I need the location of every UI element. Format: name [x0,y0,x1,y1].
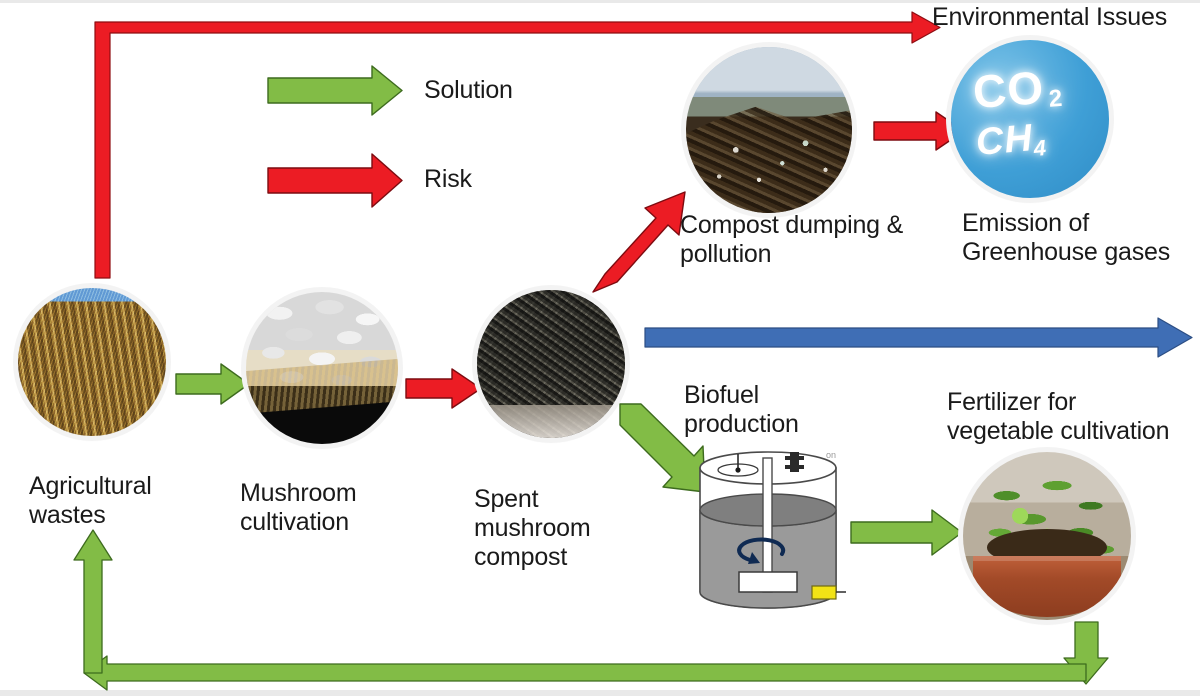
flow-outcome-blue-arrow [645,318,1192,357]
label-biofuel-production: Biofuel production [684,381,864,439]
legend-risk-arrow [268,154,402,207]
flow-risk-smc-to-dumping [593,192,685,292]
label-mushroom-cultivation: Mushroom cultivation [240,479,430,537]
node-fertilizer-image [963,452,1131,620]
svg-text:on: on [826,450,836,460]
flow-solution-wastes-to-mushroom [176,364,249,404]
node-compost-dumping-image [686,47,852,213]
ch4-gas-label: CH4 [975,116,1049,165]
node-greenhouse-gases-image: CO2 CH4 [951,40,1109,198]
label-agricultural-wastes: Agricultural wastes [29,472,209,530]
label-fertilizer: Fertilizer for vegetable cultivation [947,388,1200,446]
label-environmental-issues: Environmental Issues [932,3,1200,32]
legend-label-risk: Risk [424,165,604,194]
node-mushroom-cultivation-image [246,292,398,444]
label-greenhouse-gases: Emission of Greenhouse gases [962,209,1194,267]
label-compost-dumping: Compost dumping & pollution [680,211,930,269]
legend-solution-arrow [268,66,402,115]
legend-label-solution: Solution [424,76,604,105]
label-spent-mushroom-compost: Spent mushroom compost [474,485,644,572]
flow-solution-biofuel-to-fertilizer [851,510,962,555]
ch4-subscript: 4 [1033,135,1048,161]
diagram-canvas: CO2 CH4 on Solut [0,0,1200,696]
node-bioreactor-diagram: on [686,444,850,614]
co2-subscript: 2 [1048,85,1064,113]
node-spent-mushroom-compost-image [477,290,625,438]
flow-risk-mushroom-to-smc [406,369,481,408]
node-agricultural-wastes-image [18,288,166,436]
co2-gas-label: CO2 [971,59,1060,119]
